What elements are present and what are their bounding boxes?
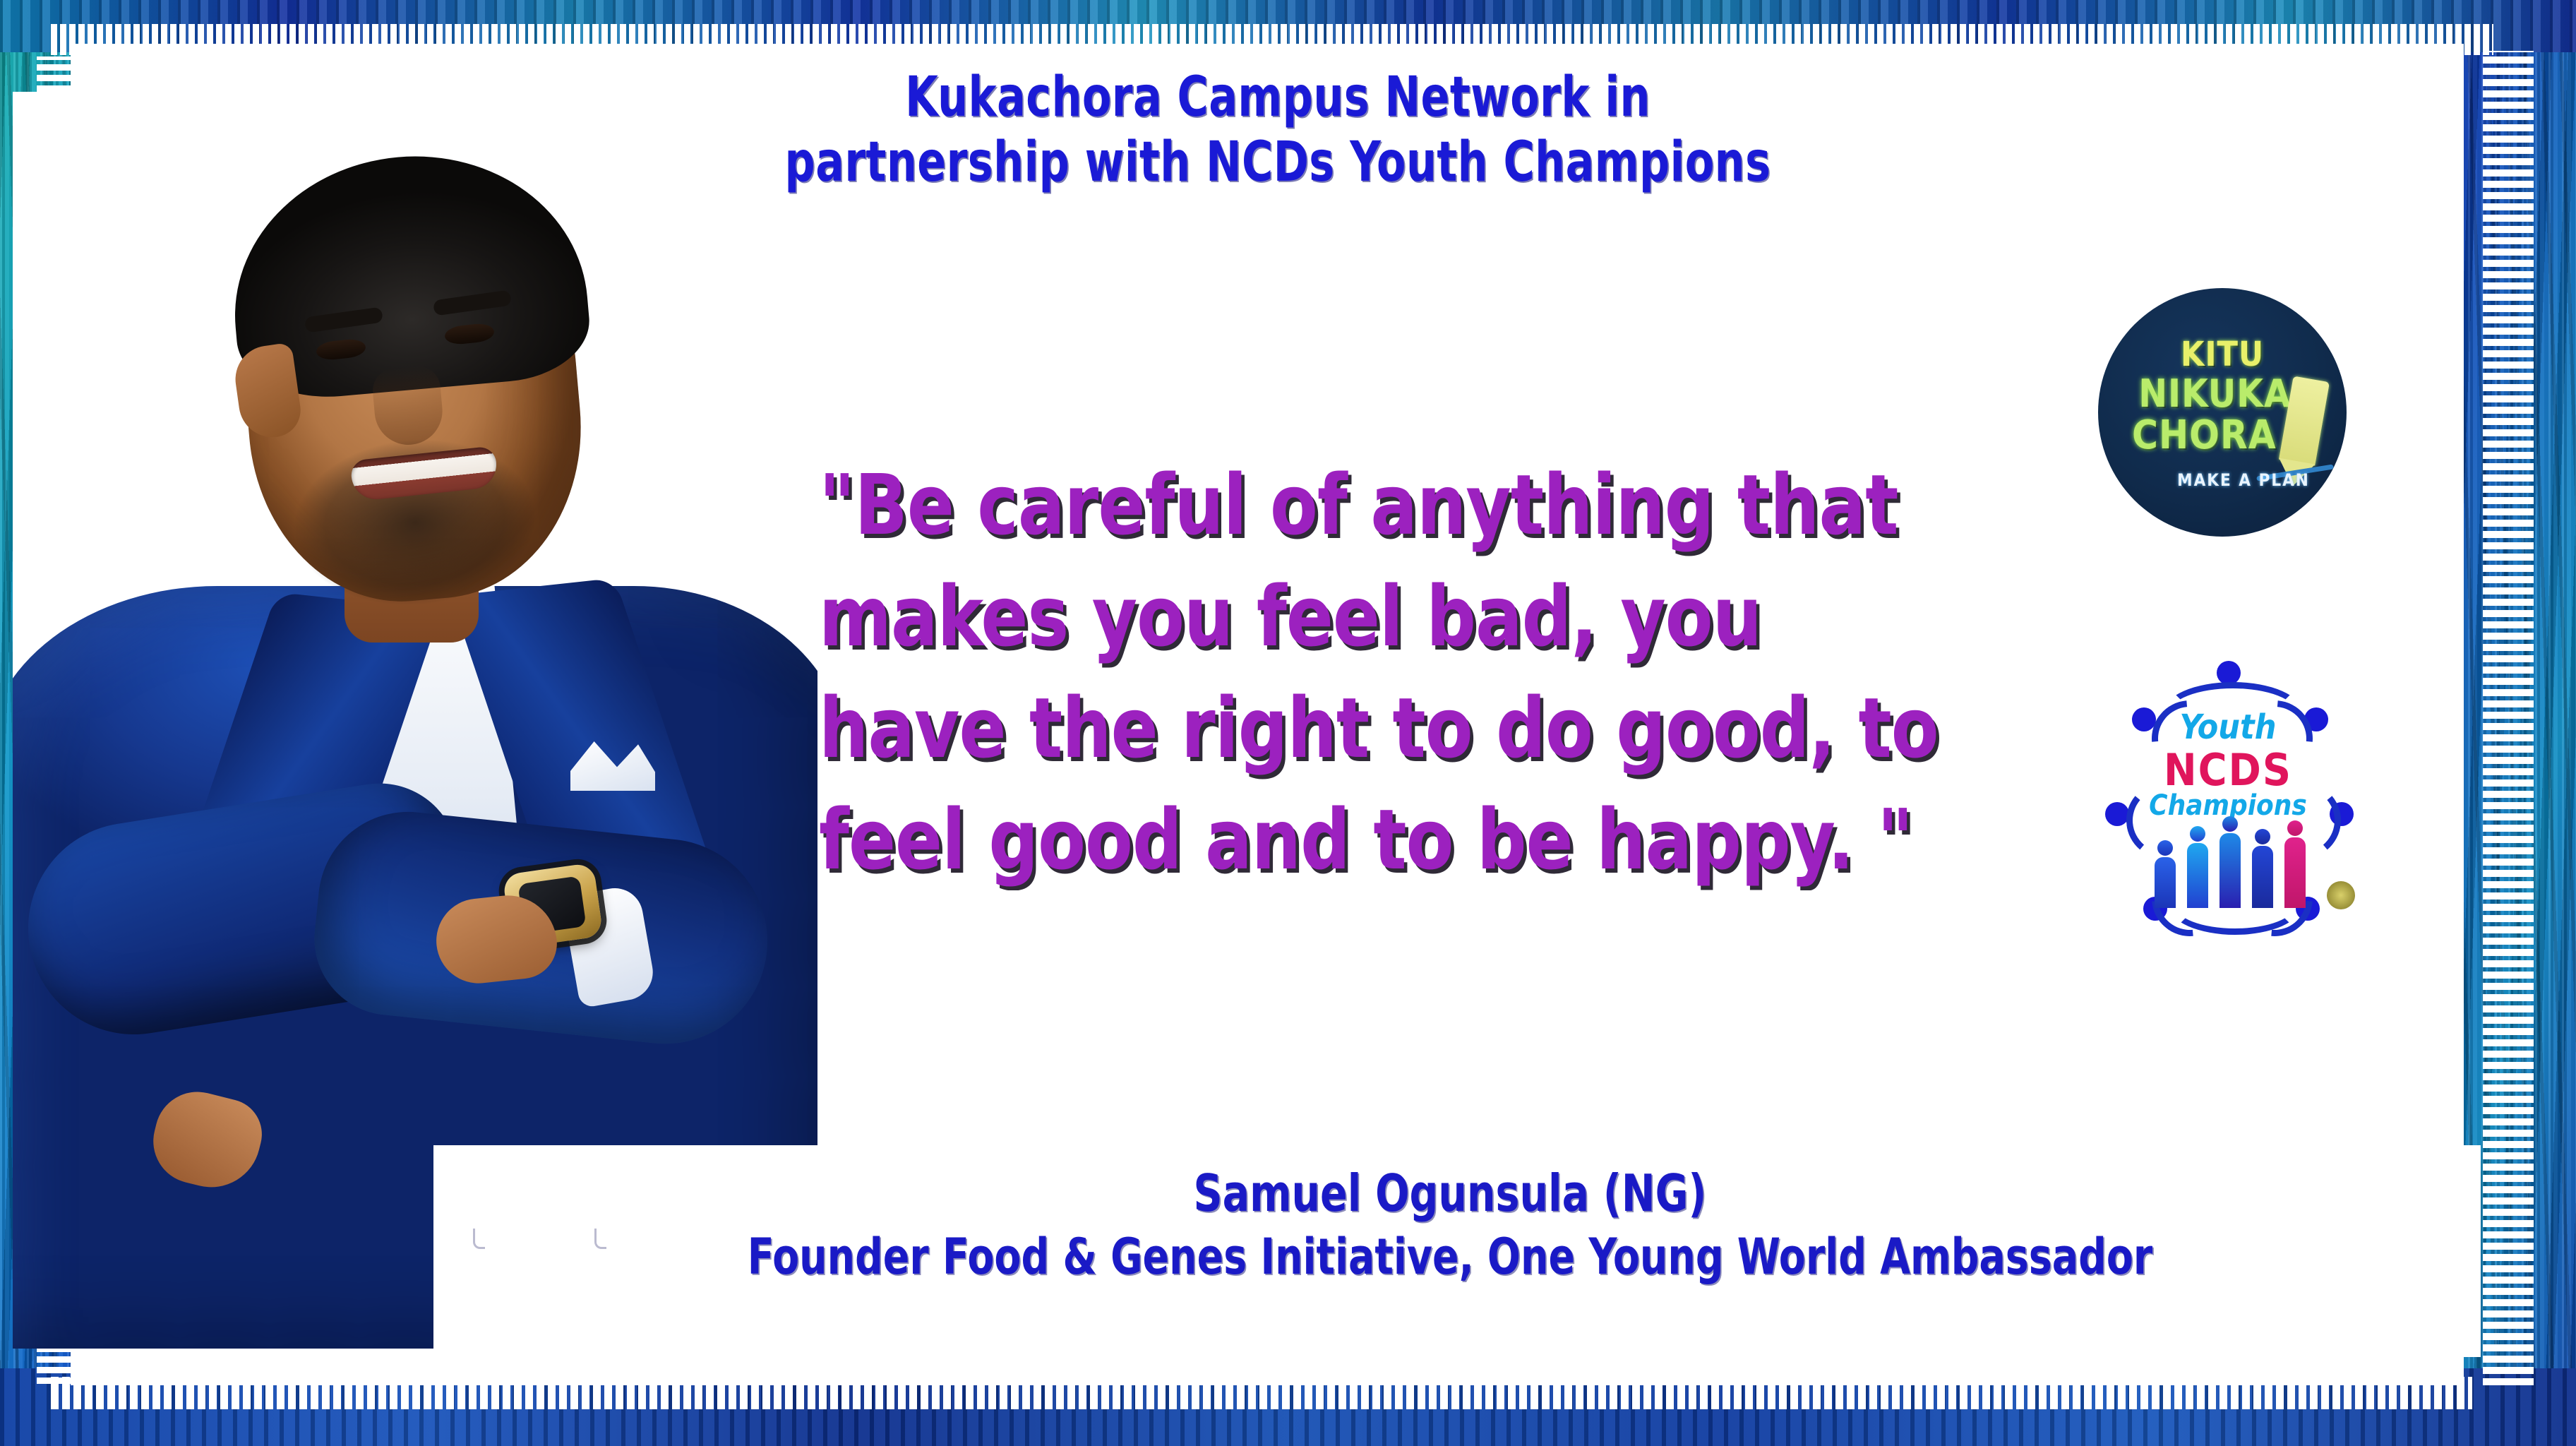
logo-youth-ncds-champions[interactable]: Youth NCDS Champions <box>2087 648 2369 931</box>
figure-5 <box>2284 837 2306 908</box>
orbit-dot-top <box>2217 661 2241 685</box>
ncds-logo-line-ncds: NCDS <box>2087 744 2369 796</box>
attribution-box: Samuel Ogunsula (NG) Founder Food & Gene… <box>433 1145 2481 1357</box>
kitu-logo-line-1: KITU <box>2098 335 2347 374</box>
figure-4 <box>2252 846 2273 908</box>
figure-1 <box>2155 857 2176 908</box>
header-line-1: Kukachora Campus Network in <box>640 65 1915 130</box>
quote-line-1: "Be careful of anything that <box>819 449 1975 561</box>
panel-edge-top <box>51 24 2493 55</box>
erased-mark-a <box>473 1229 485 1249</box>
panel-edge-bottom <box>51 1377 2472 1409</box>
quote-text: "Be careful of anything that makes you f… <box>819 449 1975 895</box>
quote-line-3: have the right to do good, to <box>819 672 1975 784</box>
figure-2 <box>2187 843 2208 908</box>
quote-line-4: feel good and to be happy. " <box>819 784 1975 895</box>
panel-edge-right <box>2483 51 2534 1385</box>
quote-line-2: makes you feel bad, you <box>819 561 1975 672</box>
header-line-2: partnership with NCDs Youth Champions <box>640 130 1915 195</box>
logo-kitu-nikuka-chora[interactable]: KITU NIKUKA- CHORA MAKE A PLAN <box>2098 288 2347 537</box>
beard <box>253 383 574 620</box>
ncds-emblem-icon <box>2327 881 2355 909</box>
ncds-logo-line-youth: Youth <box>2087 707 2369 747</box>
kitu-logo-tagline: MAKE A PLAN <box>2098 470 2347 490</box>
poster-header: Kukachora Campus Network in partnership … <box>640 65 1915 195</box>
crowd-silhouette-icon <box>2155 830 2306 908</box>
quote-poster: Kukachora Campus Network in partnership … <box>0 0 2576 1446</box>
attribution-text: Samuel Ogunsula (NG) Founder Food & Gene… <box>556 1161 2344 1289</box>
speaker-role: Founder Food & Genes Initiative, One You… <box>556 1226 2344 1289</box>
speaker-name: Samuel Ogunsula (NG) <box>556 1161 2344 1226</box>
figure-3 <box>2219 833 2241 908</box>
